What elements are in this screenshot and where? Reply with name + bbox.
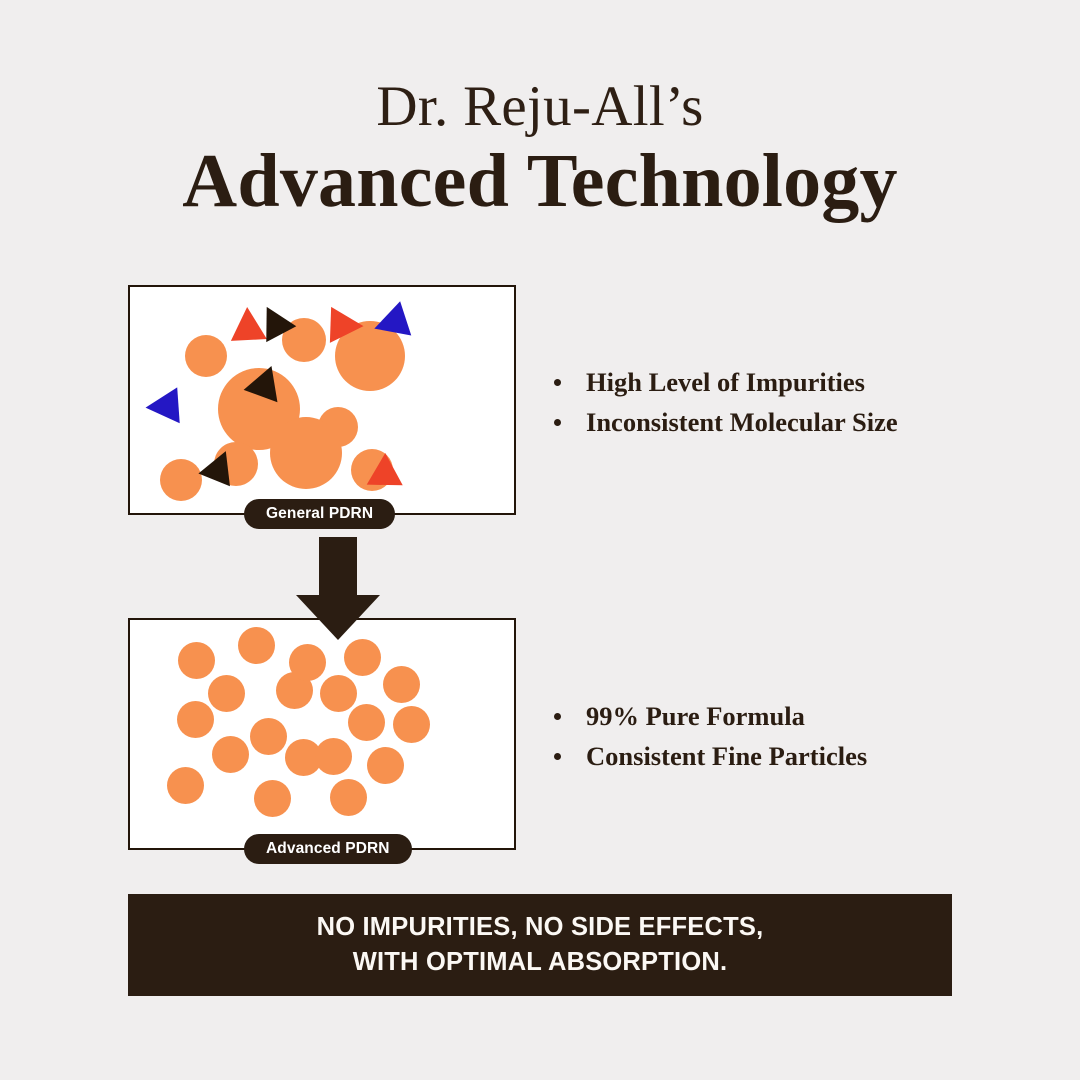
bullet-dot-icon: [554, 753, 561, 760]
panel-advanced-pdrn: [128, 618, 516, 850]
impurity-triangle: [367, 453, 404, 486]
molecule-circle: [178, 642, 215, 679]
arrow-shaft: [319, 537, 357, 599]
arrow-head: [296, 595, 380, 640]
bullet-list-advanced-items: 99% Pure Formula Consistent Fine Particl…: [552, 696, 867, 776]
molecule-circle: [185, 335, 227, 377]
molecule-circle: [383, 666, 420, 703]
bullet-list-general: High Level of Impurities Inconsistent Mo…: [552, 362, 898, 442]
panel-label-advanced-pdrn: Advanced PDRN: [244, 834, 412, 864]
molecule-circle: [315, 738, 352, 775]
title-line-headline: Advanced Technology: [0, 139, 1080, 224]
molecule-circle: [167, 767, 204, 804]
molecule-circle: [344, 639, 381, 676]
molecule-circle: [177, 701, 214, 738]
bullet-dot-icon: [554, 379, 561, 386]
molecule-circle: [270, 417, 342, 489]
molecule-circle: [208, 675, 245, 712]
bullet-dot-icon: [554, 713, 561, 720]
list-item: 99% Pure Formula: [552, 696, 867, 736]
bullet-list-advanced: 99% Pure Formula Consistent Fine Particl…: [552, 696, 867, 776]
molecule-circle: [238, 627, 275, 664]
molecule-circle: [367, 747, 404, 784]
title-line-brand: Dr. Reju-All’s: [0, 78, 1080, 135]
molecule-canvas-advanced: [130, 620, 514, 848]
list-item: Consistent Fine Particles: [552, 736, 867, 776]
impurity-triangle: [330, 307, 364, 344]
impurity-triangle: [144, 387, 179, 425]
banner-line-2: WITH OPTIMAL ABSORPTION.: [353, 945, 728, 980]
banner-line-1: NO IMPURITIES, NO SIDE EFFECTS,: [317, 910, 764, 945]
molecule-circle: [289, 644, 326, 681]
molecule-circle: [250, 718, 287, 755]
molecule-circle: [348, 704, 385, 741]
list-item: High Level of Impurities: [552, 362, 898, 402]
molecule-circle: [160, 459, 202, 501]
list-item-label: Inconsistent Molecular Size: [586, 407, 898, 437]
bullet-list-general-items: High Level of Impurities Inconsistent Mo…: [552, 362, 898, 442]
molecule-circle: [330, 779, 367, 816]
list-item-label: 99% Pure Formula: [586, 701, 805, 731]
summary-banner: NO IMPURITIES, NO SIDE EFFECTS, WITH OPT…: [128, 894, 952, 996]
molecule-circle: [254, 780, 291, 817]
molecule-circle: [320, 675, 357, 712]
molecule-circle: [212, 736, 249, 773]
panel-general-pdrn: [128, 285, 516, 515]
molecule-canvas-general: [130, 287, 514, 513]
molecule-circle: [393, 706, 430, 743]
list-item-label: High Level of Impurities: [586, 367, 865, 397]
list-item: Inconsistent Molecular Size: [552, 402, 898, 442]
list-item-label: Consistent Fine Particles: [586, 741, 867, 771]
down-arrow-icon: [296, 537, 380, 637]
page-title: Dr. Reju-All’s Advanced Technology: [0, 78, 1080, 224]
bullet-dot-icon: [554, 419, 561, 426]
panel-label-general-pdrn: General PDRN: [244, 499, 395, 529]
